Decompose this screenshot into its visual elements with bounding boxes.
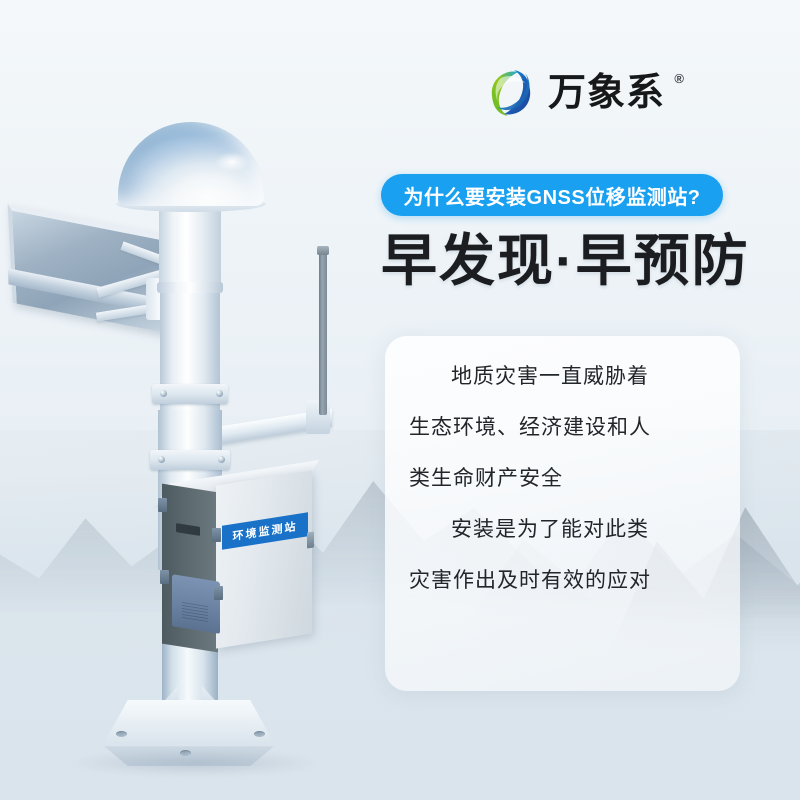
base-bolt-hole: [180, 750, 191, 756]
gnss-monitoring-station-illustration: 环境监测站: [0, 100, 380, 760]
bolt-icon: [216, 390, 223, 397]
antenna-neck: [159, 204, 221, 290]
bolt-icon: [160, 390, 167, 397]
cabinet-hinge: [214, 586, 223, 600]
radome-highlight: [215, 152, 249, 172]
base-bolt-hole: [116, 731, 127, 737]
cabinet-hinge: [160, 570, 169, 584]
description-line: 类生命财产安全: [409, 468, 716, 489]
description-line: 地质灾害一直威胁着: [409, 366, 716, 387]
cabinet-latch: [307, 531, 314, 548]
antenna-rod: [319, 250, 327, 415]
page-title: 早发现·早预防: [381, 230, 781, 292]
brand-lockup: 万象系 ®: [484, 66, 665, 120]
poster-canvas: 环境监测站: [0, 0, 800, 800]
description-card: 地质灾害一直威胁着 生态环境、经济建设和人 类生命财产安全 安装是为了能对此类 …: [385, 336, 740, 691]
question-banner: 为什么要安装GNSS位移监测站?: [381, 174, 723, 216]
description-line: 灾害作出及时有效的应对: [409, 570, 716, 591]
registered-trademark-icon: ®: [674, 72, 685, 85]
cabinet-hinge: [158, 498, 167, 512]
question-banner-text: 为什么要安装GNSS位移监测站?: [404, 181, 701, 210]
brand-name-text: 万象系: [548, 72, 665, 114]
brand-name: 万象系 ®: [548, 74, 665, 112]
description-line: 生态环境、经济建设和人: [409, 417, 716, 438]
description-line: 安装是为了能对此类: [409, 519, 716, 540]
cabinet-hinge: [212, 528, 221, 542]
bolt-icon: [218, 456, 225, 463]
base-bolt-hole: [254, 731, 265, 737]
antenna-neck-band: [157, 282, 223, 293]
cabinet-front-face: [216, 470, 312, 648]
antenna-rod-cap: [317, 246, 329, 255]
bolt-icon: [158, 456, 165, 463]
globe-swirl-logo-icon: [484, 66, 538, 120]
